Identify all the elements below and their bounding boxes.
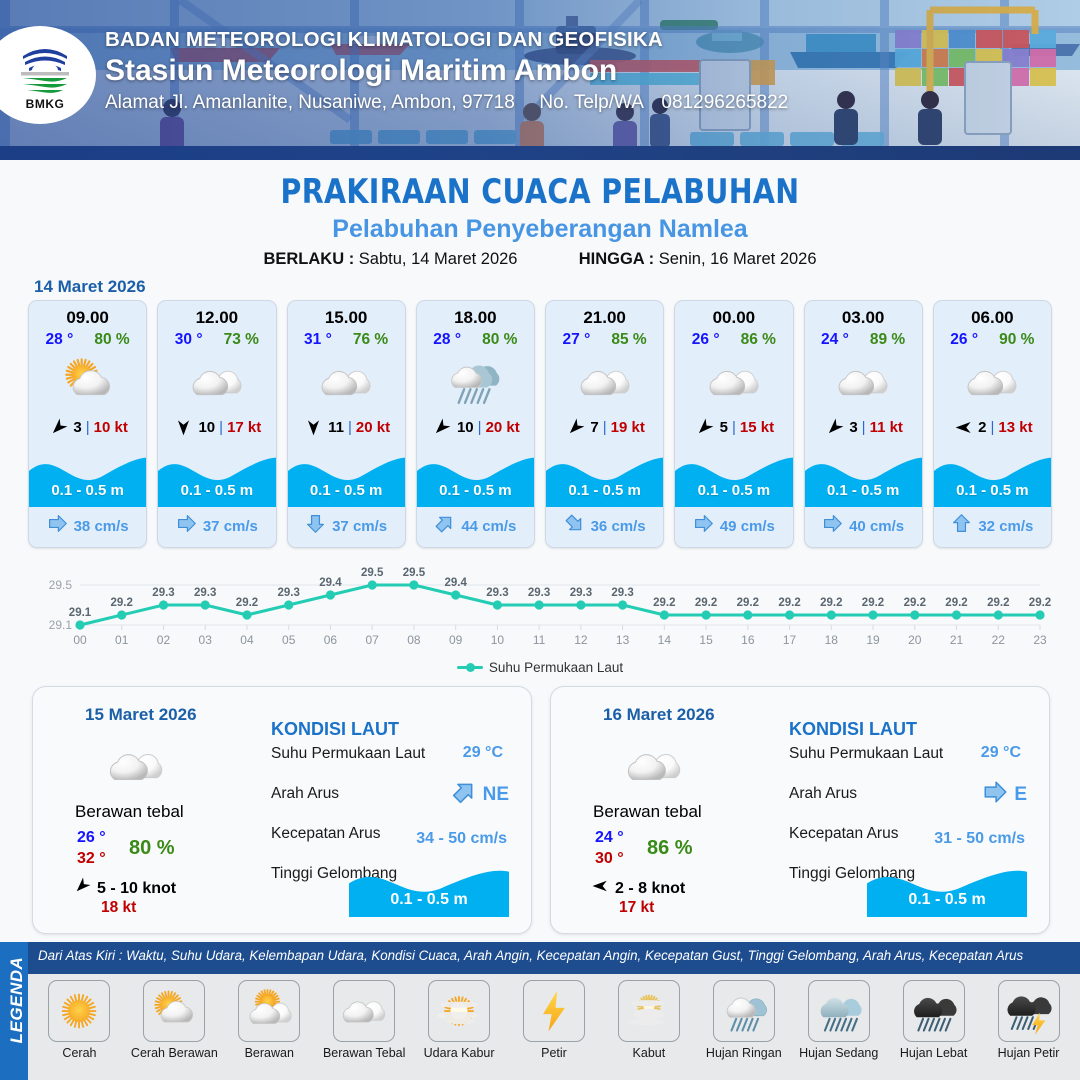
sst-label: Suhu Permukaan Laut xyxy=(271,745,425,763)
svg-text:29.2: 29.2 xyxy=(695,597,717,609)
panel-wind-speed: 2 - 8 knot xyxy=(615,880,685,898)
wind-speed: 3 xyxy=(73,419,81,436)
rain-icon xyxy=(417,351,534,413)
hour-wind-row: 3|10 kt xyxy=(29,417,146,437)
wind-direction-arrow-icon xyxy=(172,417,194,437)
svg-text:29.2: 29.2 xyxy=(987,597,1009,609)
svg-text:29.2: 29.2 xyxy=(111,597,133,609)
wind-direction-arrow-icon xyxy=(564,417,586,437)
header-text-block: BADAN METEOROLOGI KLIMATOLOGI DAN GEOFIS… xyxy=(105,28,788,114)
svg-text:29.3: 29.3 xyxy=(528,587,550,599)
hour-temperature: 28 ° xyxy=(46,331,74,349)
hour-temp-hum-row: 31 °76 % xyxy=(288,331,405,349)
svg-text:29.3: 29.3 xyxy=(570,587,592,599)
legend-item-label: Berawan Tebal xyxy=(323,1046,405,1060)
svg-text:29.2: 29.2 xyxy=(945,597,967,609)
svg-text:15: 15 xyxy=(699,633,713,647)
svg-text:29.4: 29.4 xyxy=(319,577,342,589)
svg-text:05: 05 xyxy=(282,633,296,647)
legend-item: Cerah Berawan xyxy=(127,980,222,1060)
wave-height-band: 0.1 - 0.5 m xyxy=(417,445,534,507)
hour-humidity: 86 % xyxy=(741,331,776,349)
wave-height-band: 0.1 - 0.5 m xyxy=(934,445,1051,507)
hour-temp-hum-row: 28 °80 % xyxy=(417,331,534,349)
wave-height-value: 0.1 - 0.5 m xyxy=(546,482,663,499)
svg-text:29.2: 29.2 xyxy=(862,597,884,609)
hingga-value: Senin, 16 Maret 2026 xyxy=(659,250,817,268)
cloud-icon xyxy=(105,735,167,802)
svg-text:12: 12 xyxy=(574,633,588,647)
svg-text:29.3: 29.3 xyxy=(194,587,216,599)
legend-vertical-label: LEGENDA xyxy=(7,945,27,1055)
sst-chart-panel: 29.529.100010203040506070809101112131415… xyxy=(28,558,1052,683)
wind-separator: | xyxy=(990,419,994,436)
hour-humidity: 90 % xyxy=(999,331,1034,349)
hour-wind-row: 7|19 kt xyxy=(546,417,663,437)
current-direction-arrow-icon xyxy=(47,513,68,539)
svg-text:29.1: 29.1 xyxy=(49,618,73,632)
current-direction-row: E xyxy=(982,779,1027,810)
current-direction-arrow-icon xyxy=(951,513,972,539)
wind-gust: 19 kt xyxy=(611,419,645,436)
current-direction-arrow-icon xyxy=(305,513,326,539)
validity-row: BERLAKU : Sabtu, 14 Maret 2026 HINGGA : … xyxy=(0,250,1080,269)
cloud-icon xyxy=(623,735,685,802)
svg-text:13: 13 xyxy=(616,633,630,647)
current-direction-label: Arah Arus xyxy=(789,785,857,803)
hour-wind-row: 3|11 kt xyxy=(805,417,922,437)
wave-height-value: 0.1 - 0.5 m xyxy=(29,482,146,499)
wind-direction-arrow-icon xyxy=(302,417,324,437)
wind-separator: | xyxy=(478,419,482,436)
legend-item-label: Hujan Lebat xyxy=(900,1046,967,1060)
svg-text:01: 01 xyxy=(115,633,129,647)
panel-wind-speed: 5 - 10 knot xyxy=(97,880,176,898)
wind-direction-arrow-icon xyxy=(431,417,453,437)
hour-wind-row: 5|15 kt xyxy=(675,417,792,437)
hour-wind-row: 2|13 kt xyxy=(934,417,1051,437)
current-speed: 38 cm/s xyxy=(74,518,129,535)
hour-temp-hum-row: 27 °85 % xyxy=(546,331,663,349)
chart-legend-marker xyxy=(457,666,483,669)
svg-text:08: 08 xyxy=(407,633,421,647)
svg-text:29.2: 29.2 xyxy=(904,597,926,609)
svg-text:29.2: 29.2 xyxy=(1029,597,1051,609)
hour-current-row: 32 cm/s xyxy=(934,513,1051,539)
svg-text:17: 17 xyxy=(783,633,797,647)
legend-items-row: CerahCerah BerawanBerawanBerawan TebalUd… xyxy=(28,974,1080,1080)
current-direction-arrow-icon xyxy=(564,513,585,539)
wind-speed: 3 xyxy=(849,419,857,436)
hour-temperature: 24 ° xyxy=(821,331,849,349)
bmkg-logo-mark xyxy=(15,40,75,96)
wind-direction-arrow-icon xyxy=(694,417,716,437)
svg-text:06: 06 xyxy=(324,633,338,647)
legend-item-label: Udara Kabur xyxy=(424,1046,495,1060)
chart-legend-label: Suhu Permukaan Laut xyxy=(489,660,623,675)
current-direction-label: Arah Arus xyxy=(271,785,339,803)
lightning-icon xyxy=(523,980,585,1042)
organization-name: BADAN METEOROLOGI KLIMATOLOGI DAN GEOFIS… xyxy=(105,28,788,52)
hour-current-row: 38 cm/s xyxy=(29,513,146,539)
sst-value: 29 °C xyxy=(981,744,1021,762)
current-speed: 40 cm/s xyxy=(849,518,904,535)
thunderstorm-icon xyxy=(998,980,1060,1042)
current-direction-arrow-icon xyxy=(982,779,1008,810)
hour-time: 21.00 xyxy=(546,308,663,328)
hour-temp-hum-row: 26 °86 % xyxy=(675,331,792,349)
legend-item: Cerah xyxy=(32,980,127,1060)
wind-separator: | xyxy=(86,419,90,436)
panel-condition: Berawan tebal xyxy=(593,802,702,822)
hour-humidity: 80 % xyxy=(94,331,129,349)
svg-text:29.2: 29.2 xyxy=(778,597,800,609)
sst-value: 29 °C xyxy=(463,744,503,762)
hour-temperature: 28 ° xyxy=(433,331,461,349)
panel-wave-band: 0.1 - 0.5 m xyxy=(349,859,509,917)
panel-temp-min: 24 ° xyxy=(595,829,624,847)
svg-text:29.4: 29.4 xyxy=(445,577,468,589)
wave-height-value: 0.1 - 0.5 m xyxy=(158,482,275,499)
hourly-card: 21.0027 °85 %7|19 kt0.1 - 0.5 m36 cm/s xyxy=(545,300,664,548)
sst-label: Suhu Permukaan Laut xyxy=(789,745,943,763)
legend-note: Dari Atas Kiri : Waktu, Suhu Udara, Kele… xyxy=(38,948,1023,963)
cloud-icon xyxy=(288,351,405,413)
current-direction-arrow-icon xyxy=(822,513,843,539)
heavy-rain-icon xyxy=(903,980,965,1042)
hingga-label: HINGGA : xyxy=(579,250,654,268)
wind-direction-arrow-icon xyxy=(823,417,845,437)
current-speed: 37 cm/s xyxy=(332,518,387,535)
wind-speed: 10 xyxy=(457,419,474,436)
current-direction-arrow-icon xyxy=(693,513,714,539)
wave-height-band: 0.1 - 0.5 m xyxy=(675,445,792,507)
hour-temperature: 27 ° xyxy=(563,331,591,349)
panel-humidity: 80 % xyxy=(129,837,175,860)
wave-height-value: 0.1 - 0.5 m xyxy=(675,482,792,499)
page-subtitle: Pelabuhan Penyeberangan Namlea xyxy=(0,215,1080,244)
current-speed: 32 cm/s xyxy=(978,518,1033,535)
wind-speed: 5 xyxy=(720,419,728,436)
panel-temp-max: 32 ° xyxy=(77,850,106,868)
svg-text:29.2: 29.2 xyxy=(653,597,675,609)
svg-text:23: 23 xyxy=(1033,633,1047,647)
legend-item: Udara Kabur xyxy=(412,980,507,1060)
wave-height-value: 0.1 - 0.5 m xyxy=(934,482,1051,499)
hour-current-row: 37 cm/s xyxy=(158,513,275,539)
wind-direction-arrow-icon xyxy=(591,877,609,900)
legend-item-label: Hujan Petir xyxy=(998,1046,1060,1060)
current-speed: 44 cm/s xyxy=(461,518,516,535)
svg-text:19: 19 xyxy=(866,633,880,647)
wave-height-band: 0.1 - 0.5 m xyxy=(805,445,922,507)
legend-section: LEGENDA Dari Atas Kiri : Waktu, Suhu Uda… xyxy=(0,942,1080,1080)
cloud-icon xyxy=(805,351,922,413)
current-speed: 49 cm/s xyxy=(720,518,775,535)
panel-wave-value: 0.1 - 0.5 m xyxy=(349,891,509,909)
wind-separator: | xyxy=(603,419,607,436)
wind-gust: 13 kt xyxy=(998,419,1032,436)
svg-text:09: 09 xyxy=(449,633,463,647)
hour-temperature: 31 ° xyxy=(304,331,332,349)
current-direction-arrow-icon xyxy=(176,513,197,539)
wind-gust: 10 kt xyxy=(94,419,128,436)
hour-wind-row: 11|20 kt xyxy=(288,417,405,437)
hour-temperature: 30 ° xyxy=(175,331,203,349)
sst-line-chart: 29.529.100010203040506070809101112131415… xyxy=(28,558,1052,658)
hour-time: 03.00 xyxy=(805,308,922,328)
current-speed: 37 cm/s xyxy=(203,518,258,535)
legend-item-label: Kabut xyxy=(633,1046,666,1060)
wind-direction-arrow-icon xyxy=(952,417,974,437)
svg-text:14: 14 xyxy=(658,633,672,647)
hour-temperature: 26 ° xyxy=(692,331,720,349)
sun-cloud-icon xyxy=(29,351,146,413)
cloud-icon xyxy=(546,351,663,413)
current-direction-arrow-icon xyxy=(434,513,455,539)
svg-text:16: 16 xyxy=(741,633,755,647)
fog-icon xyxy=(618,980,680,1042)
panel-condition: Berawan tebal xyxy=(75,802,184,822)
hour-wind-row: 10|20 kt xyxy=(417,417,534,437)
wave-height-band: 0.1 - 0.5 m xyxy=(546,445,663,507)
current-speed-value: 34 - 50 cm/s xyxy=(416,830,507,848)
wind-gust: 20 kt xyxy=(356,419,390,436)
title-block: PRAKIRAAN CUACA PELABUHAN Pelabuhan Peny… xyxy=(0,160,1080,269)
svg-text:20: 20 xyxy=(908,633,922,647)
wave-height-value: 0.1 - 0.5 m xyxy=(805,482,922,499)
wind-separator: | xyxy=(732,419,736,436)
current-speed-label: Kecepatan Arus xyxy=(271,825,380,843)
svg-text:29.5: 29.5 xyxy=(361,567,384,579)
legend-item: Berawan xyxy=(222,980,317,1060)
current-speed: 36 cm/s xyxy=(591,518,646,535)
page-title: PRAKIRAAN CUACA PELABUHAN xyxy=(38,172,1042,212)
legend-item: Hujan Petir xyxy=(981,980,1076,1060)
panel-wind-row: 2 - 8 knot xyxy=(591,877,685,900)
wind-speed: 7 xyxy=(590,419,598,436)
light-rain-icon xyxy=(713,980,775,1042)
sea-condition-title: KONDISI LAUT xyxy=(271,719,399,740)
daily-forecast-panels: 15 Maret 2026Berawan tebal26 °32 °80 %5 … xyxy=(32,686,1050,934)
hourly-card: 09.0028 °80 %3|10 kt0.1 - 0.5 m38 cm/s xyxy=(28,300,147,548)
hour-time: 12.00 xyxy=(158,308,275,328)
wave-height-band: 0.1 - 0.5 m xyxy=(288,445,405,507)
daily-forecast-panel: 15 Maret 2026Berawan tebal26 °32 °80 %5 … xyxy=(32,686,532,934)
legend-vertical-bar: LEGENDA xyxy=(0,942,28,1080)
moderate-rain-icon xyxy=(808,980,870,1042)
hour-humidity: 76 % xyxy=(353,331,388,349)
hourly-card: 15.0031 °76 %11|20 kt0.1 - 0.5 m37 cm/s xyxy=(287,300,406,548)
panel-humidity: 86 % xyxy=(647,837,693,860)
daily-forecast-panel: 16 Maret 2026Berawan tebal24 °30 °86 %2 … xyxy=(550,686,1050,934)
svg-text:29.5: 29.5 xyxy=(403,567,426,579)
panel-wind-gust: 17 kt xyxy=(619,899,654,917)
svg-text:29.3: 29.3 xyxy=(611,587,633,599)
svg-text:29.1: 29.1 xyxy=(69,607,92,619)
current-direction-value: NE xyxy=(483,784,509,806)
legend-item-label: Petir xyxy=(541,1046,567,1060)
wind-speed: 2 xyxy=(978,419,986,436)
svg-text:29.5: 29.5 xyxy=(49,578,73,592)
bmkg-logo-label: BMKG xyxy=(26,97,65,111)
hour-current-row: 40 cm/s xyxy=(805,513,922,539)
wind-gust: 20 kt xyxy=(486,419,520,436)
svg-text:03: 03 xyxy=(199,633,213,647)
hour-temp-hum-row: 26 °90 % xyxy=(934,331,1051,349)
clouds-icon xyxy=(333,980,395,1042)
legend-item: Kabut xyxy=(601,980,696,1060)
svg-text:18: 18 xyxy=(825,633,839,647)
panel-wave-value: 0.1 - 0.5 m xyxy=(867,891,1027,909)
cloud-icon xyxy=(158,351,275,413)
legend-item-label: Cerah xyxy=(62,1046,96,1060)
hour-current-row: 37 cm/s xyxy=(288,513,405,539)
sun-icon xyxy=(48,980,110,1042)
legend-item-label: Berawan xyxy=(245,1046,294,1060)
cloud-icon xyxy=(934,351,1051,413)
wind-speed: 10 xyxy=(198,419,215,436)
wave-height-band: 0.1 - 0.5 m xyxy=(158,445,275,507)
current-direction-row: NE xyxy=(451,779,509,810)
sun-cloud-icon xyxy=(143,980,205,1042)
hour-time: 06.00 xyxy=(934,308,1051,328)
legend-item: Petir xyxy=(507,980,602,1060)
address-line: Alamat Jl. Amanlanite, Nusaniwe, Ambon, … xyxy=(105,92,788,114)
legend-item-label: Hujan Sedang xyxy=(799,1046,878,1060)
wind-gust: 11 kt xyxy=(870,419,903,436)
legend-item: Hujan Sedang xyxy=(791,980,886,1060)
phone-label: No. Telp/WA xyxy=(539,92,643,113)
svg-text:04: 04 xyxy=(240,633,254,647)
hourly-card: 03.0024 °89 %3|11 kt0.1 - 0.5 m40 cm/s xyxy=(804,300,923,548)
hour-wind-row: 10|17 kt xyxy=(158,417,275,437)
wind-separator: | xyxy=(862,419,866,436)
hour-time: 09.00 xyxy=(29,308,146,328)
day1-date-label: 14 Maret 2026 xyxy=(34,277,146,297)
svg-text:21: 21 xyxy=(950,633,964,647)
legend-item: Berawan Tebal xyxy=(317,980,412,1060)
legend-item: Hujan Lebat xyxy=(886,980,981,1060)
hour-time: 15.00 xyxy=(288,308,405,328)
wind-gust: 17 kt xyxy=(227,419,261,436)
hourly-card: 12.0030 °73 %10|17 kt0.1 - 0.5 m37 cm/s xyxy=(157,300,276,548)
wind-direction-arrow-icon xyxy=(47,417,69,437)
svg-text:10: 10 xyxy=(491,633,505,647)
panel-wave-band: 0.1 - 0.5 m xyxy=(867,859,1027,917)
page-header: BMKG BADAN METEOROLOGI KLIMATOLOGI DAN G… xyxy=(0,0,1080,160)
wind-speed: 11 xyxy=(328,419,344,436)
hourly-card: 18.0028 °80 %10|20 kt0.1 - 0.5 m44 cm/s xyxy=(416,300,535,548)
hourly-forecast-row: 09.0028 °80 %3|10 kt0.1 - 0.5 m38 cm/s12… xyxy=(28,300,1052,548)
wave-height-value: 0.1 - 0.5 m xyxy=(417,482,534,499)
panel-date: 15 Maret 2026 xyxy=(85,705,197,725)
address-text: Alamat Jl. Amanlanite, Nusaniwe, Ambon, … xyxy=(105,92,515,113)
hourly-card: 06.0026 °90 %2|13 kt0.1 - 0.5 m32 cm/s xyxy=(933,300,1052,548)
svg-text:22: 22 xyxy=(992,633,1006,647)
current-speed-label: Kecepatan Arus xyxy=(789,825,898,843)
sun-clouds-icon xyxy=(238,980,300,1042)
wave-height-value: 0.1 - 0.5 m xyxy=(288,482,405,499)
station-name: Stasiun Meteorologi Maritim Ambon xyxy=(105,54,788,88)
svg-text:29.3: 29.3 xyxy=(152,587,174,599)
berlaku-label: BERLAKU : xyxy=(263,250,354,268)
wind-separator: | xyxy=(219,419,223,436)
wind-direction-arrow-icon xyxy=(73,877,91,900)
haze-sun-icon xyxy=(428,980,490,1042)
berlaku-value: Sabtu, 14 Maret 2026 xyxy=(359,250,518,268)
hour-current-row: 44 cm/s xyxy=(417,513,534,539)
hour-humidity: 73 % xyxy=(224,331,259,349)
hour-time: 18.00 xyxy=(417,308,534,328)
cloud-icon xyxy=(675,351,792,413)
phone-number: 081296265822 xyxy=(661,92,788,113)
hour-temperature: 26 ° xyxy=(950,331,978,349)
current-speed-value: 31 - 50 cm/s xyxy=(934,830,1025,848)
hour-humidity: 85 % xyxy=(611,331,646,349)
legend-item: Hujan Ringan xyxy=(696,980,791,1060)
hour-humidity: 89 % xyxy=(870,331,905,349)
svg-text:29.3: 29.3 xyxy=(486,587,508,599)
legend-item-label: Cerah Berawan xyxy=(131,1046,218,1060)
svg-text:07: 07 xyxy=(365,633,379,647)
chart-legend: Suhu Permukaan Laut xyxy=(28,660,1052,675)
current-direction-value: E xyxy=(1014,784,1027,806)
panel-temp-min: 26 ° xyxy=(77,829,106,847)
wind-gust: 15 kt xyxy=(740,419,774,436)
svg-text:29.3: 29.3 xyxy=(278,587,300,599)
svg-text:29.2: 29.2 xyxy=(820,597,842,609)
current-direction-arrow-icon xyxy=(451,779,477,810)
svg-text:11: 11 xyxy=(533,633,546,647)
svg-text:00: 00 xyxy=(73,633,87,647)
svg-text:29.2: 29.2 xyxy=(737,597,759,609)
hourly-card: 00.0026 °86 %5|15 kt0.1 - 0.5 m49 cm/s xyxy=(674,300,793,548)
hour-temp-hum-row: 28 °80 % xyxy=(29,331,146,349)
sea-condition-title: KONDISI LAUT xyxy=(789,719,917,740)
wind-separator: | xyxy=(348,419,352,436)
panel-wind-row: 5 - 10 knot xyxy=(73,877,176,900)
hour-current-row: 36 cm/s xyxy=(546,513,663,539)
panel-temp-max: 30 ° xyxy=(595,850,624,868)
hour-temp-hum-row: 24 °89 % xyxy=(805,331,922,349)
legend-item-label: Hujan Ringan xyxy=(706,1046,782,1060)
hour-time: 00.00 xyxy=(675,308,792,328)
hour-temp-hum-row: 30 °73 % xyxy=(158,331,275,349)
wave-height-band: 0.1 - 0.5 m xyxy=(29,445,146,507)
panel-wind-gust: 18 kt xyxy=(101,899,136,917)
panel-date: 16 Maret 2026 xyxy=(603,705,715,725)
hour-current-row: 49 cm/s xyxy=(675,513,792,539)
svg-text:29.2: 29.2 xyxy=(236,597,258,609)
hour-humidity: 80 % xyxy=(482,331,517,349)
svg-text:02: 02 xyxy=(157,633,171,647)
